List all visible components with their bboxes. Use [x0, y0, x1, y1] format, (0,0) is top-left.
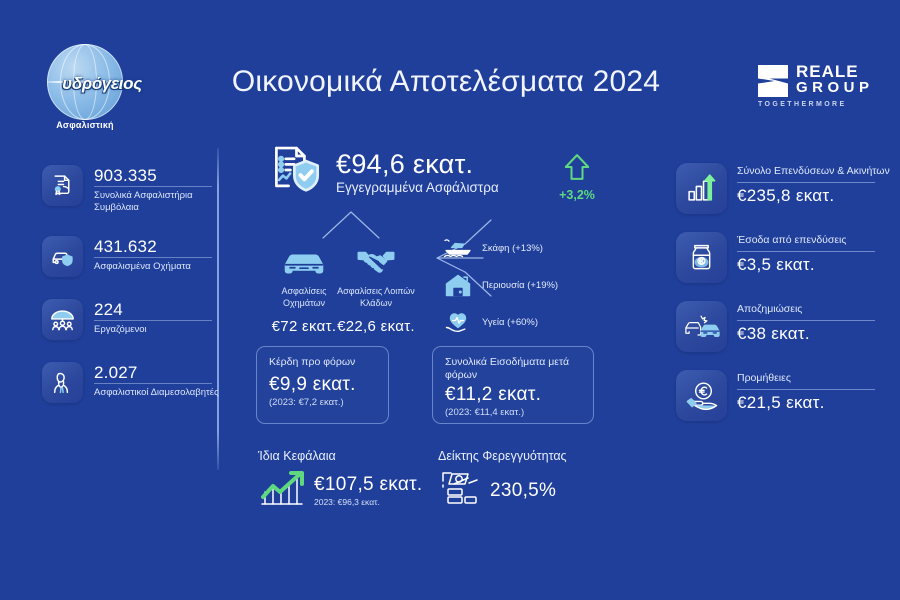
- kpi-value: 2.027: [94, 363, 219, 382]
- divider: [94, 383, 212, 384]
- divider: [94, 186, 212, 187]
- divider: [94, 320, 212, 321]
- car-crash-icon: [676, 301, 727, 352]
- bar-chart-arrow-icon: [676, 163, 727, 214]
- hero-subtitle: Εγγεγραμμένα Ασφάλιστρα: [336, 179, 499, 197]
- divider: [737, 320, 875, 321]
- rk-label: Σύνολο Επενδύσεων & Ακινήτων: [737, 165, 890, 179]
- document-shield-check-icon: [268, 142, 324, 203]
- subline-boats: Σκάφη (+13%): [443, 232, 613, 264]
- subline-label: Σκάφη (+13%): [482, 243, 543, 254]
- infographic-canvas: υδρόγειος Ασφαλιστική Οικονομικά Αποτελέ…: [0, 0, 900, 600]
- kpi-label: Ασφαλισμένα Οχήματα: [94, 261, 212, 273]
- segment-other: Ασφαλίσεις Λοιπών Κλάδων €22,6 εκατ.: [334, 240, 418, 335]
- rk-value: €38 εκατ.: [737, 324, 875, 344]
- card-value: €11,2 εκατ.: [445, 383, 581, 407]
- rk-label: Προμήθειες: [737, 372, 875, 386]
- divider: [94, 257, 212, 258]
- subline-health: Υγεία (+60%): [443, 306, 613, 338]
- card-label: Κέρδη προ φόρων: [269, 356, 376, 369]
- kpi-label: Ασφαλιστικοί Διαμεσολαβητές: [94, 387, 219, 399]
- boat-icon: [443, 237, 473, 259]
- heart-health-icon: [443, 310, 473, 335]
- partner-tagline: TOGETHERMORE: [758, 101, 847, 108]
- house-icon: [443, 273, 473, 298]
- subline-property: Περιουσία (+19%): [443, 269, 613, 301]
- partner-name-line1: REALE: [796, 63, 859, 80]
- kpi-employees: 224 Εργαζόμενοι: [42, 299, 222, 340]
- partner-logo: REALE GROUP TOGETHERMORE: [758, 63, 878, 115]
- rk-commissions: Προμήθειες €21,5 εκατ.: [676, 370, 892, 421]
- right-stats-list: Σύνολο Επενδύσεων & Ακινήτων €235,8 εκατ…: [676, 163, 892, 439]
- page-title: Οικονομικά Αποτελέσματα 2024: [196, 65, 696, 99]
- segment-value: €22,6 εκατ.: [334, 318, 418, 335]
- card-value: €9,9 εκατ.: [269, 373, 376, 397]
- brand-name: υδρόγειος: [49, 74, 155, 94]
- agent-person-icon: [42, 362, 83, 403]
- block-previous: 2023: €96,3 εκατ.: [314, 497, 423, 507]
- rk-label: Έσοδα από επενδύσεις: [737, 234, 875, 248]
- divider: [737, 182, 875, 183]
- block-label: Ίδια Κεφάλαια: [258, 448, 438, 464]
- rk-value: €235,8 εκατ.: [737, 186, 890, 206]
- umbrella-people-icon: [42, 299, 83, 340]
- kpi-value: 431.632: [94, 237, 212, 256]
- kpi-label: Εργαζόμενοι: [94, 324, 212, 336]
- reale-mark-icon: [758, 65, 788, 97]
- kpi-label: Συνολικά Ασφαλιστήρια Συμβόλαια: [94, 190, 222, 214]
- block-equity: Ίδια Κεφάλαια €107,5 εκατ. 2023: €96,3 ε…: [258, 448, 438, 513]
- left-stats-list: 903.335 Συνολικά Ασφαλιστήρια Συμβόλαια …: [42, 165, 222, 425]
- rk-value: €3,5 εκατ.: [737, 255, 875, 275]
- up-arrow-icon: [545, 152, 609, 187]
- solvency-checklist-icon: [438, 468, 482, 513]
- block-value: €107,5 εκατ.: [314, 474, 423, 496]
- hero-value: €94,6 εκατ.: [336, 149, 499, 179]
- rk-total-investments: Σύνολο Επενδύσεων & Ακινήτων €235,8 εκατ…: [676, 163, 892, 214]
- kpi-value: 903.335: [94, 166, 222, 185]
- handshake-icon: [334, 240, 418, 280]
- hero-growth: +3,2%: [545, 152, 609, 202]
- card-previous: (2023: €11,4 εκατ.): [445, 407, 581, 419]
- kpi-vehicles: 431.632 Ασφαλισμένα Οχήματα: [42, 236, 222, 277]
- kpi-policies: 903.335 Συνολικά Ασφαλιστήρια Συμβόλαια: [42, 165, 222, 214]
- subline-label: Υγεία (+60%): [482, 317, 538, 328]
- block-value: 230,5%: [490, 480, 556, 502]
- globe-icon: υδρόγειος: [47, 44, 123, 120]
- block-label: Δείκτης Φερεγγυότητας: [438, 448, 628, 464]
- policy-document-icon: [42, 165, 83, 206]
- divider: [737, 389, 875, 390]
- kpi-value: 224: [94, 300, 212, 319]
- car-shield-icon: [42, 236, 83, 277]
- block-solvency: Δείκτης Φερεγγυότητας 230,5%: [438, 448, 628, 513]
- card-total-income-after-tax: Συνολικά Εισοδήματα μετά φόρων €11,2 εκα…: [432, 346, 594, 424]
- card-label: Συνολικά Εισοδήματα μετά φόρων: [445, 356, 581, 382]
- brand-subtitle: Ασφαλιστική: [30, 120, 140, 130]
- divider: [737, 251, 875, 252]
- rk-investment-income: Έσοδα από επενδύσεις €3,5 εκατ.: [676, 232, 892, 283]
- kpi-agents: 2.027 Ασφαλιστικοί Διαμεσολαβητές: [42, 362, 222, 403]
- card-profit-before-tax: Κέρδη προ φόρων €9,9 εκατ. (2023: €7,2 ε…: [256, 346, 389, 424]
- growth-chart-icon: [258, 468, 306, 513]
- segment-name: Ασφαλίσεις Λοιπών Κλάδων: [334, 286, 418, 309]
- rk-value: €21,5 εκατ.: [737, 393, 875, 413]
- partner-name-line2: GROUP: [796, 80, 874, 96]
- money-jar-icon: [676, 232, 727, 283]
- rk-label: Αποζημιώσεις: [737, 303, 875, 317]
- hand-euro-coin-icon: [676, 370, 727, 421]
- brand-logo: υδρόγειος Ασφαλιστική: [30, 44, 140, 134]
- card-previous: (2023: €7,2 εκατ.): [269, 397, 376, 409]
- subline-label: Περιουσία (+19%): [482, 280, 558, 291]
- rk-claims: Αποζημιώσεις €38 εκατ.: [676, 301, 892, 352]
- sublines-list: Σκάφη (+13%) Περιουσία (+19%): [443, 232, 613, 343]
